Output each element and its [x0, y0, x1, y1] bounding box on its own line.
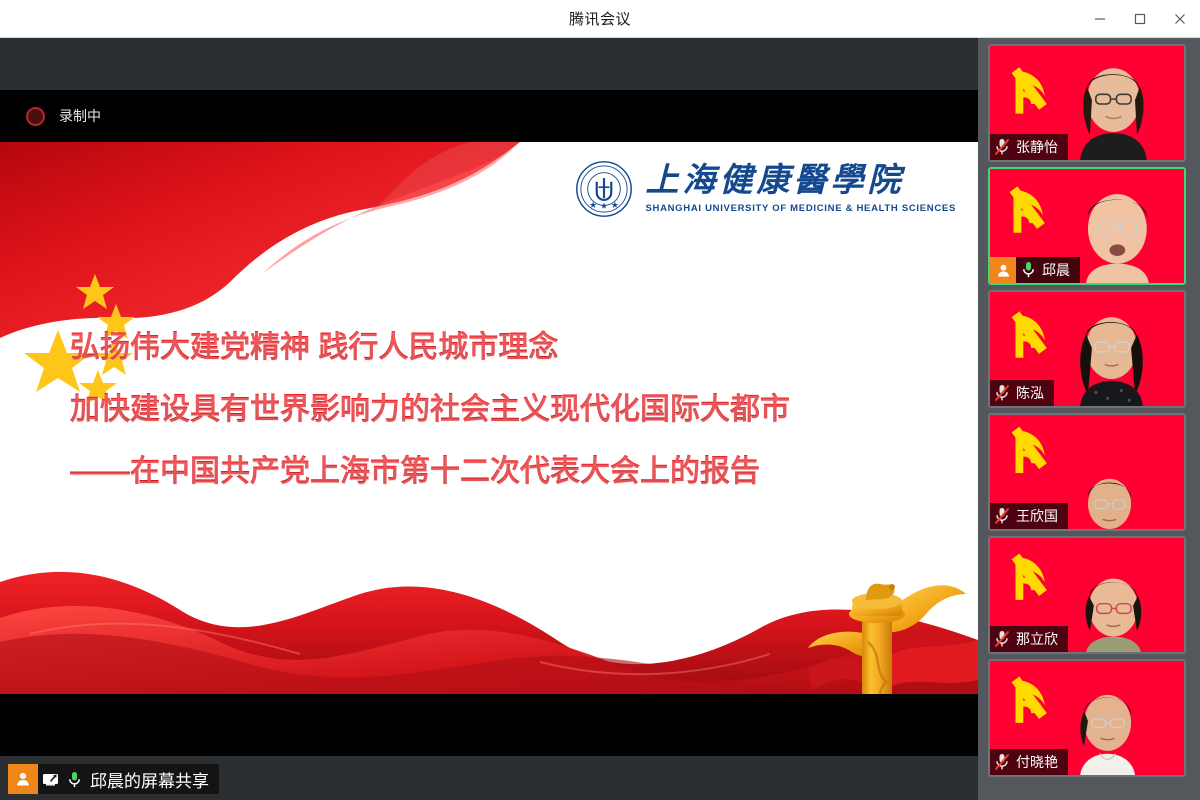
slide-title-line-1: 弘扬伟大建党精神 践行人民城市理念 — [70, 322, 870, 366]
participant-name: 王欣国 — [1016, 506, 1058, 526]
mic-on-icon — [62, 764, 86, 794]
shared-screen-stage: 录制中 — [0, 38, 978, 800]
university-seal-icon — [575, 160, 633, 218]
participant-name: 张静怡 — [1016, 137, 1058, 157]
participant-name-chip: 付晓艳 — [990, 749, 1068, 775]
participant-name: 邱晨 — [1042, 260, 1070, 280]
participant-name-chip: 张静怡 — [990, 134, 1068, 160]
mic-off-icon — [990, 134, 1014, 160]
university-name-en: SHANGHAI UNIVERSITY OF MEDICINE & HEALTH… — [645, 204, 956, 214]
participant-sidebar[interactable]: 张静怡 — [978, 38, 1200, 800]
participant-tile[interactable]: 王欣国 — [988, 413, 1186, 531]
slide-title-line-2: 加快建设具有世界影响力的社会主义现代化国际大都市 — [70, 384, 870, 428]
recording-label: 录制中 — [59, 106, 101, 126]
minimize-icon — [1094, 13, 1106, 25]
participant-face — [1080, 695, 1135, 775]
person-icon — [996, 263, 1011, 278]
screen-share-chip[interactable]: 邱晨的屏幕共享 — [8, 764, 219, 794]
participant-name: 陈泓 — [1016, 383, 1044, 403]
title-bar: 腾讯会议 — [0, 0, 1200, 38]
host-badge — [8, 764, 38, 794]
minimize-button[interactable] — [1080, 0, 1120, 38]
university-name-cn: 上海健康醫學院 — [645, 165, 956, 198]
participant-tile[interactable]: 那立欣 — [988, 536, 1186, 654]
participant-tile[interactable]: 邱晨 — [988, 167, 1186, 285]
recording-indicator-icon — [26, 107, 45, 126]
tencent-meeting-window: 腾讯会议 录制中 — [0, 0, 1200, 800]
participant-face — [1086, 194, 1149, 283]
recording-bar: 录制中 — [0, 90, 978, 142]
host-badge — [990, 257, 1016, 283]
participant-name-chip: 邱晨 — [990, 257, 1080, 283]
stage-black-band — [0, 694, 978, 756]
mic-off-icon — [990, 626, 1014, 652]
participant-face — [1088, 479, 1131, 529]
presentation-slide: 上海健康醫學院 SHANGHAI UNIVERSITY OF MEDICINE … — [0, 142, 978, 694]
participant-name-chip: 陈泓 — [990, 380, 1054, 406]
mic-off-icon — [990, 380, 1014, 406]
close-button[interactable] — [1160, 0, 1200, 38]
person-icon — [15, 771, 31, 787]
participant-name: 那立欣 — [1016, 629, 1058, 649]
stage-top-strip — [0, 38, 978, 90]
participant-name-chip: 那立欣 — [990, 626, 1068, 652]
share-label: 邱晨的屏幕共享 — [90, 767, 209, 792]
participant-tile[interactable]: 陈泓 — [988, 290, 1186, 408]
window-controls — [1080, 0, 1200, 38]
slide-title: 弘扬伟大建党精神 践行人民城市理念 加快建设具有世界影响力的社会主义现代化国际大… — [70, 322, 870, 490]
slide-title-line-3: ——在中国共产党上海市第十二次代表大会上的报告 — [70, 446, 870, 490]
mic-off-icon — [990, 749, 1014, 775]
participant-name: 付晓艳 — [1016, 752, 1058, 772]
screen-share-icon — [38, 764, 62, 794]
mic-off-icon — [990, 503, 1014, 529]
mic-on-icon — [1016, 257, 1040, 283]
window-title: 腾讯会议 — [569, 8, 631, 29]
maximize-button[interactable] — [1120, 0, 1160, 38]
stage-bottom-bar: 邱晨的屏幕共享 — [0, 756, 978, 800]
close-icon — [1174, 13, 1186, 25]
participant-tile[interactable]: 张静怡 — [988, 44, 1186, 162]
maximize-icon — [1134, 13, 1146, 25]
participant-tile[interactable]: 付晓艳 — [988, 659, 1186, 777]
participant-name-chip: 王欣国 — [990, 503, 1068, 529]
university-logo: 上海健康醫學院 SHANGHAI UNIVERSITY OF MEDICINE … — [575, 160, 956, 218]
